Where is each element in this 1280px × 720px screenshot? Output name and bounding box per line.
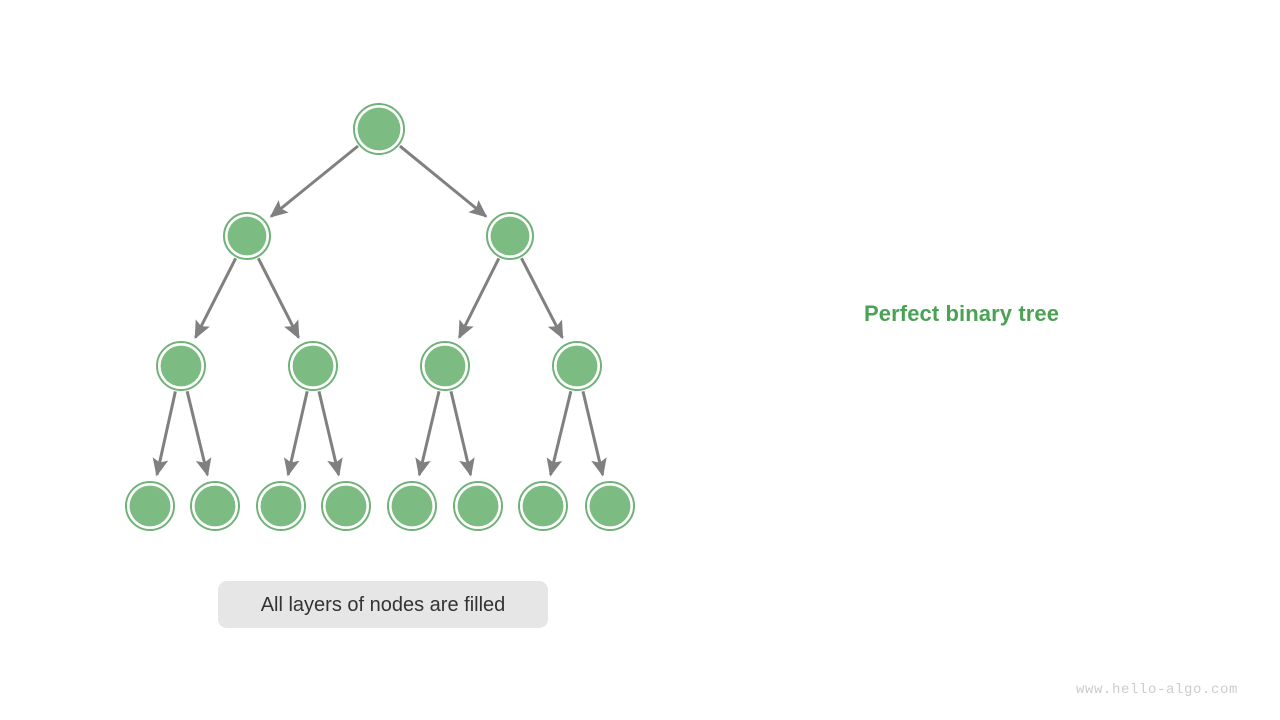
tree-edge: [288, 391, 307, 474]
node-fill: [261, 486, 302, 527]
node-fill: [228, 217, 267, 256]
caption-chip-label: All layers of nodes are filled: [261, 595, 506, 615]
tree-node[interactable]: [354, 104, 404, 154]
tree-node[interactable]: [519, 482, 567, 530]
diagram-canvas: Perfect binary tree All layers of nodes …: [0, 0, 1280, 720]
node-fill: [293, 346, 334, 387]
node-fill: [161, 346, 202, 387]
node-fill: [326, 486, 367, 527]
page-title: Perfect binary tree: [864, 301, 1059, 327]
tree-edge: [451, 391, 471, 475]
node-fill: [491, 217, 530, 256]
tree-node[interactable]: [586, 482, 634, 530]
tree-edge: [271, 146, 358, 216]
tree-edge: [195, 258, 235, 337]
tree-node[interactable]: [454, 482, 502, 530]
node-fill: [425, 346, 466, 387]
tree-edge: [187, 391, 207, 475]
caption-chip: All layers of nodes are filled: [218, 581, 548, 628]
tree-node[interactable]: [224, 213, 270, 259]
edge-layer: [157, 146, 603, 475]
node-fill: [130, 486, 171, 527]
tree-edge: [419, 391, 439, 475]
tree-node[interactable]: [421, 342, 469, 390]
tree-edge: [400, 146, 486, 216]
node-fill: [523, 486, 564, 527]
node-fill: [358, 108, 401, 151]
tree-node[interactable]: [191, 482, 239, 530]
node-fill: [458, 486, 499, 527]
node-fill: [590, 486, 631, 527]
tree-node[interactable]: [289, 342, 337, 390]
node-layer: [126, 104, 634, 530]
tree-edge: [583, 391, 603, 475]
tree-node[interactable]: [553, 342, 601, 390]
tree-edge: [319, 391, 339, 475]
tree-edge: [157, 391, 175, 474]
watermark: www.hello-algo.com: [1076, 682, 1238, 698]
node-fill: [392, 486, 433, 527]
tree-node[interactable]: [322, 482, 370, 530]
tree-edge: [258, 258, 298, 337]
binary-tree-graphic: [0, 0, 1280, 720]
tree-edge: [521, 258, 562, 337]
tree-edge: [551, 391, 571, 475]
tree-edge: [459, 258, 499, 337]
tree-node[interactable]: [487, 213, 533, 259]
tree-node[interactable]: [257, 482, 305, 530]
node-fill: [195, 486, 236, 527]
tree-node[interactable]: [157, 342, 205, 390]
tree-node[interactable]: [388, 482, 436, 530]
node-fill: [557, 346, 598, 387]
tree-node[interactable]: [126, 482, 174, 530]
